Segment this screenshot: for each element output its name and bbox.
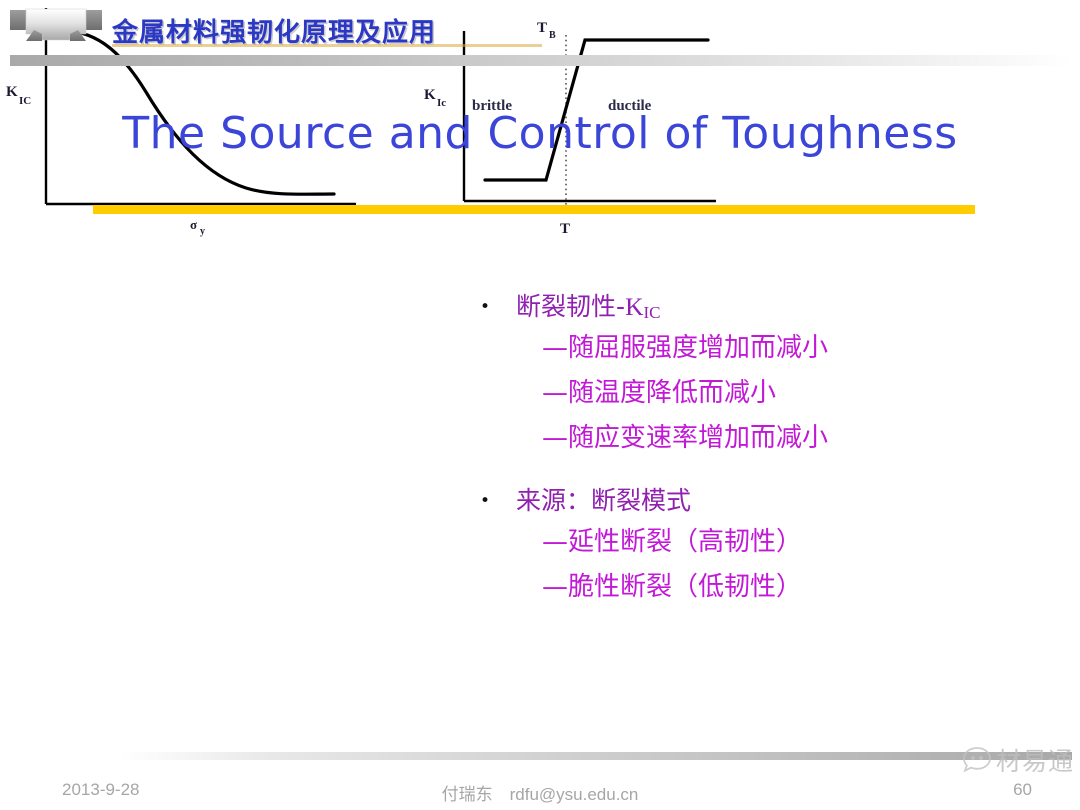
bullet-subitem: —脆性断裂（低韧性） xyxy=(542,565,1040,610)
x-axis-label-subscript: y xyxy=(200,226,205,237)
bullet-label-symbol: K xyxy=(625,292,643,321)
page-number: 60 xyxy=(1013,780,1032,800)
footer-author-contact: 付瑞东 rdfu@ysu.edu.cn xyxy=(0,780,1080,805)
bullet-group-2: • 来源：断裂模式 —延性断裂（高韧性） —脆性断裂（低韧性） xyxy=(480,482,1040,609)
y-axis-label: K xyxy=(424,87,436,103)
header-title-underline xyxy=(112,44,542,47)
bullet-subitem: —延性断裂（高韧性） xyxy=(542,520,1040,565)
ribbon-banner-icon xyxy=(8,8,104,52)
bullet-item-fracture-mode-source: • 来源：断裂模式 xyxy=(480,482,1040,520)
y-axis-label-subscript: IC xyxy=(19,95,31,107)
bullet-subitem: —随屈服强度增加而减小 xyxy=(542,326,1040,371)
page-title: The Source and Control of Toughness xyxy=(0,108,1080,159)
slide-header: 金属材料强韧化原理及应用 xyxy=(0,0,1080,72)
speech-bubble-face-icon xyxy=(962,746,992,774)
bullet-group-1: • 断裂韧性-KIC —随屈服强度增加而减小 —随温度降低而减小 —随应变速率增… xyxy=(480,288,1040,460)
bullet-item-fracture-toughness: • 断裂韧性-KIC xyxy=(480,288,1040,326)
bullet-list: • 断裂韧性-KIC —随屈服强度增加而减小 —随温度降低而减小 —随应变速率增… xyxy=(480,288,1040,623)
bullet-label-subscript: IC xyxy=(643,303,660,322)
bullet-label: 来源：断裂模式 xyxy=(516,482,691,520)
x-axis-label: σ xyxy=(190,217,197,232)
x-axis-label: T xyxy=(560,221,570,237)
watermark-text: 材易通 xyxy=(996,742,1074,778)
watermark: 材易通 xyxy=(962,742,1074,778)
bullet-marker-icon: • xyxy=(480,298,490,317)
bullet-marker-icon: • xyxy=(480,492,490,511)
title-divider-rule xyxy=(93,205,975,214)
y-axis-label: K xyxy=(6,84,18,100)
bullet-label-text: 断裂韧性- xyxy=(516,292,625,321)
header-gradient-bar xyxy=(10,55,1072,66)
bullet-label: 断裂韧性-KIC xyxy=(516,288,660,326)
bullet-subitem: —随温度降低而减小 xyxy=(542,371,1040,416)
bullet-subitem: —随应变速率增加而减小 xyxy=(542,416,1040,461)
footer-gradient-bar xyxy=(120,752,1072,760)
